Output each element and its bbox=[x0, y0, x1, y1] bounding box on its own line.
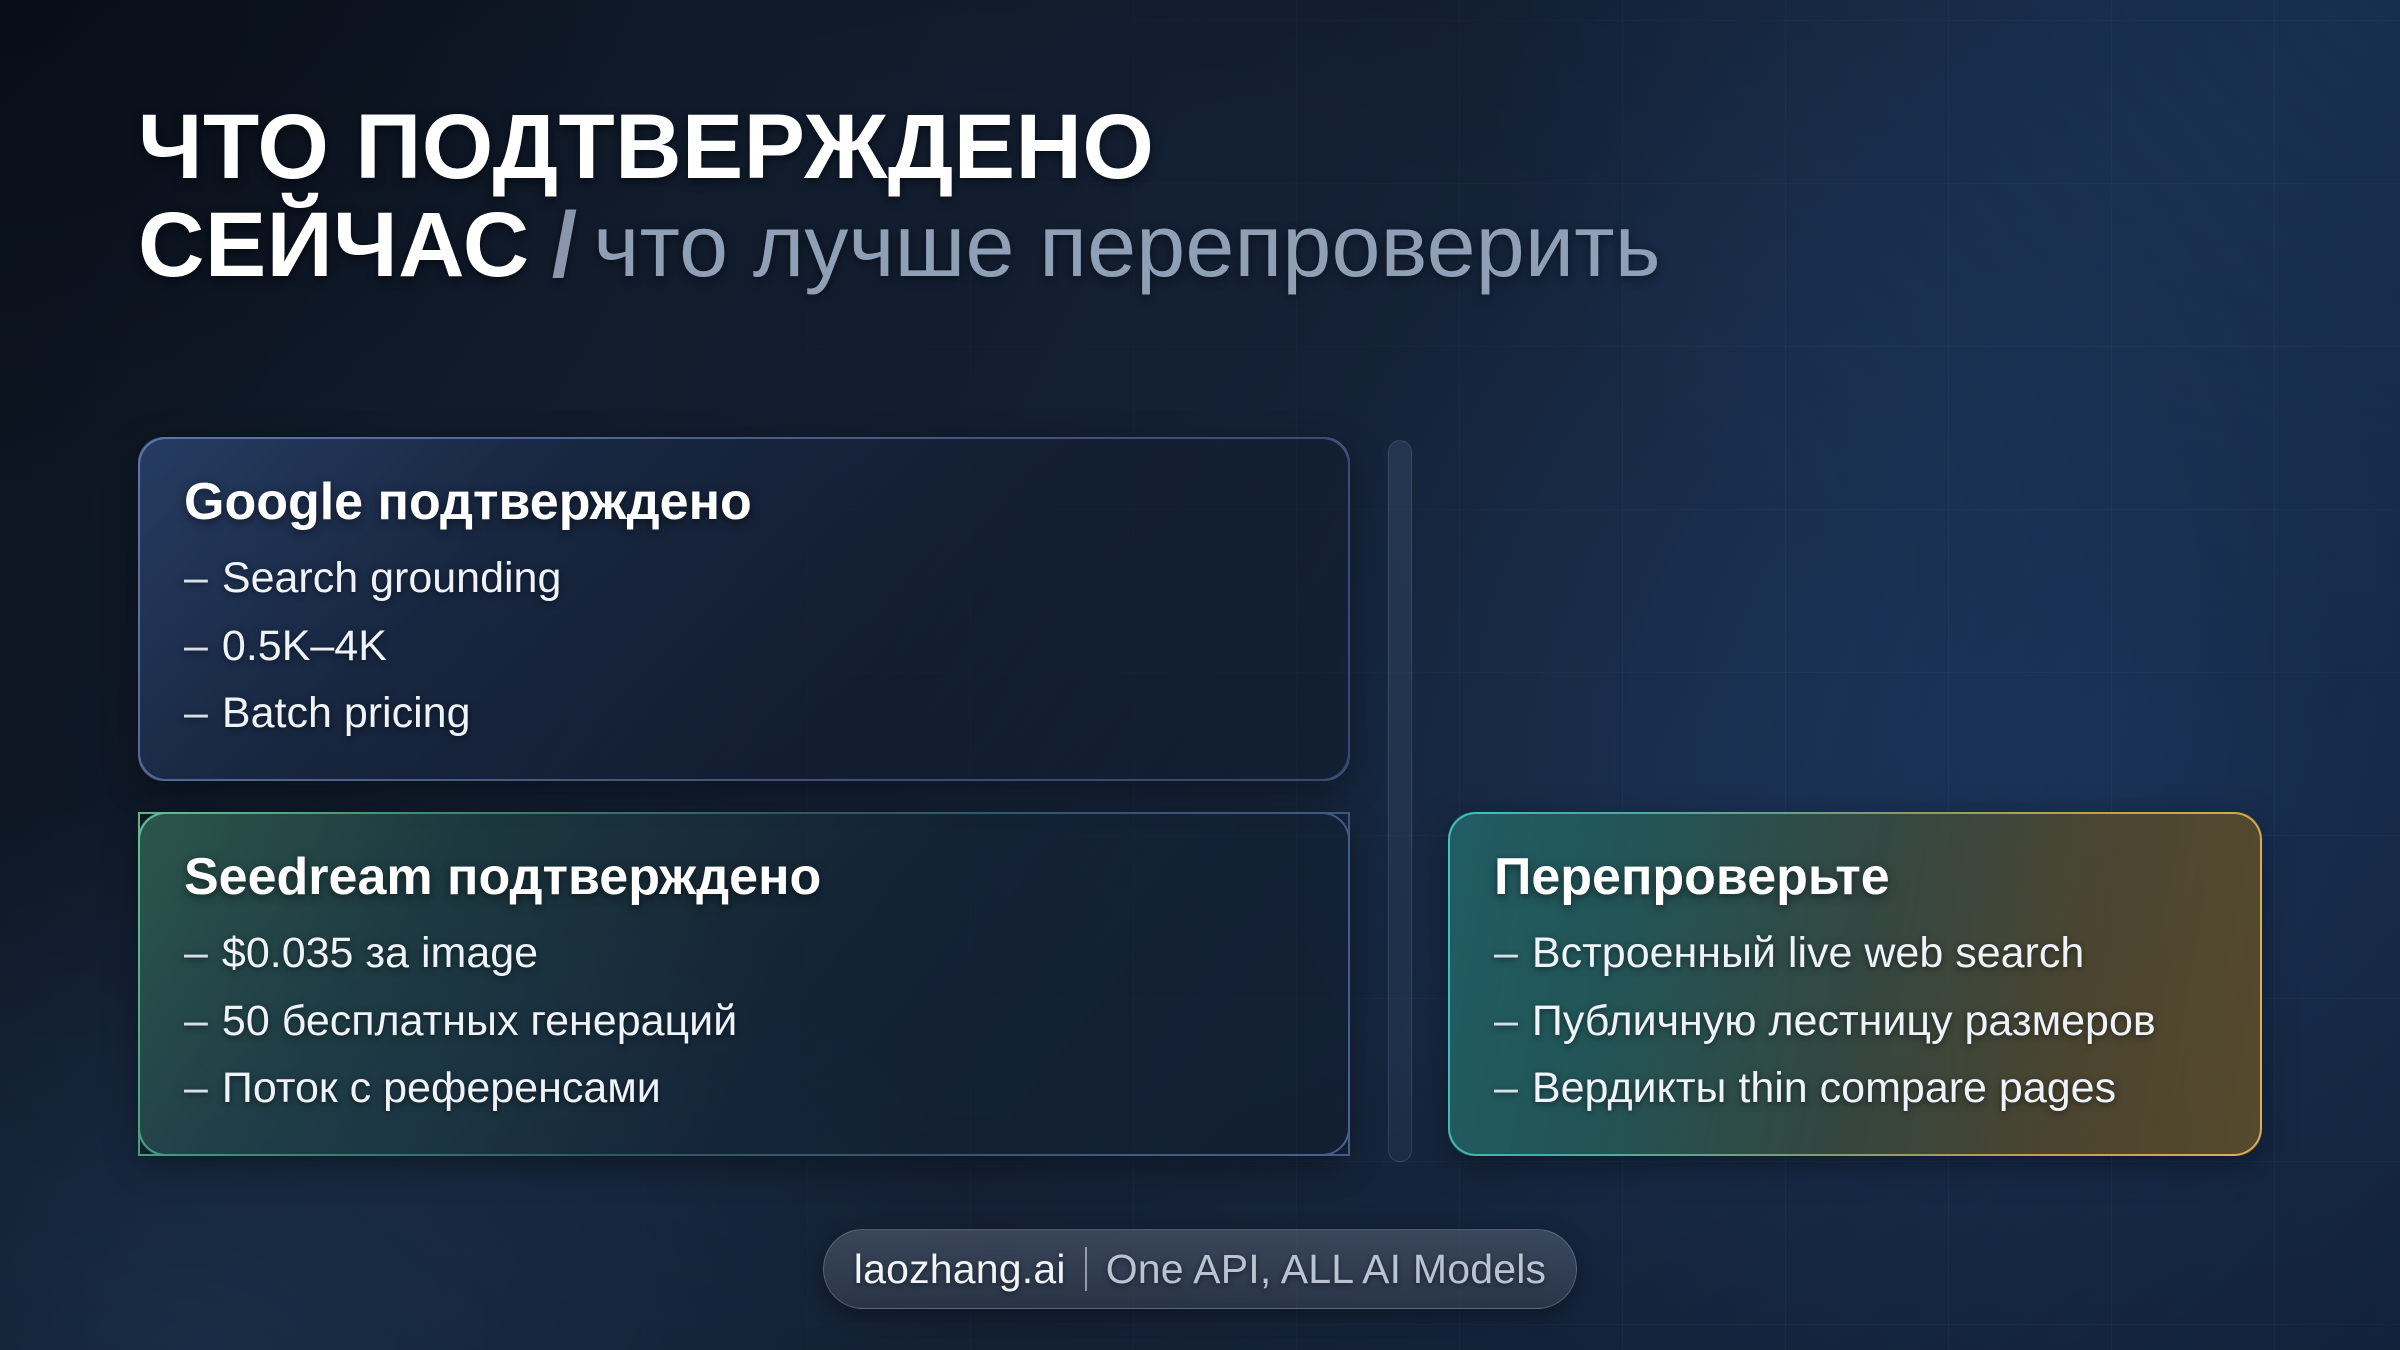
title-main-second: СЕЙЧАС bbox=[138, 194, 530, 296]
title-main-first: ЧТО ПОДТВЕРЖДЕНО bbox=[138, 96, 1154, 198]
page-title: ЧТО ПОДТВЕРЖДЕНО СЕЙЧАС/что лучше перепр… bbox=[138, 98, 2098, 295]
card-item-list: –Search grounding –0.5K–4K –Batch pricin… bbox=[184, 553, 1304, 738]
list-item-label: Встроенный live web search bbox=[1532, 929, 2084, 977]
list-item-label: 50 бесплатных генераций bbox=[222, 997, 737, 1045]
card-seedream-confirmed: Seedream подтверждено –$0.035 за image –… bbox=[138, 812, 1350, 1156]
title-line-2: СЕЙЧАС/что лучше перепроверить bbox=[138, 196, 2098, 294]
dash-marker: – bbox=[184, 554, 208, 602]
title-line-1: ЧТО ПОДТВЕРЖДЕНО bbox=[138, 98, 2098, 196]
list-item-label: Поток с референсами bbox=[222, 1064, 661, 1112]
list-item: –Поток с референсами bbox=[184, 1063, 1304, 1113]
card-title: Seedream подтверждено bbox=[184, 848, 1304, 906]
dash-marker: – bbox=[184, 929, 208, 977]
card-recheck: Перепроверьте –Встроенный live web searc… bbox=[1448, 812, 2262, 1156]
title-separator: / bbox=[552, 194, 578, 296]
list-item: –$0.035 за image bbox=[184, 928, 1304, 978]
slide-root: ЧТО ПОДТВЕРЖДЕНО СЕЙЧАС/что лучше перепр… bbox=[0, 0, 2400, 1350]
card-title: Google подтверждено bbox=[184, 473, 1304, 531]
list-item-label: Search grounding bbox=[222, 554, 561, 602]
dash-marker: – bbox=[1494, 997, 1518, 1045]
card-google-confirmed: Google подтверждено –Search grounding –0… bbox=[138, 437, 1350, 781]
dash-marker: – bbox=[184, 1064, 208, 1112]
title-subtitle: что лучше перепроверить bbox=[594, 196, 1661, 295]
dash-marker: – bbox=[184, 622, 208, 670]
dash-marker: – bbox=[184, 997, 208, 1045]
brand-name: laozhang.ai bbox=[854, 1246, 1066, 1293]
badge-divider bbox=[1085, 1247, 1087, 1291]
dash-marker: – bbox=[1494, 1064, 1518, 1112]
column-divider bbox=[1388, 440, 1412, 1162]
list-item: –Встроенный live web search bbox=[1494, 928, 2216, 978]
dash-marker: – bbox=[1494, 929, 1518, 977]
brand-tagline: One API, ALL AI Models bbox=[1106, 1246, 1547, 1293]
list-item: –Batch pricing bbox=[184, 688, 1304, 738]
card-item-list: –$0.035 за image –50 бесплатных генераци… bbox=[184, 928, 1304, 1113]
list-item: –Публичную лестницу размеров bbox=[1494, 996, 2216, 1046]
list-item-label: Вердикты thin compare pages bbox=[1532, 1064, 2116, 1112]
list-item-label: $0.035 за image bbox=[222, 929, 538, 977]
list-item-label: 0.5K–4K bbox=[222, 622, 387, 670]
card-title: Перепроверьте bbox=[1494, 848, 2216, 906]
card-item-list: –Встроенный live web search –Публичную л… bbox=[1494, 928, 2216, 1113]
list-item: –50 бесплатных генераций bbox=[184, 996, 1304, 1046]
list-item-label: Публичную лестницу размеров bbox=[1532, 997, 2156, 1045]
dash-marker: – bbox=[184, 689, 208, 737]
list-item: –Вердикты thin compare pages bbox=[1494, 1063, 2216, 1113]
list-item: –0.5K–4K bbox=[184, 621, 1304, 671]
list-item-label: Batch pricing bbox=[222, 689, 471, 737]
list-item: –Search grounding bbox=[184, 553, 1304, 603]
footer-brand-badge[interactable]: laozhang.ai One API, ALL AI Models bbox=[823, 1229, 1577, 1309]
